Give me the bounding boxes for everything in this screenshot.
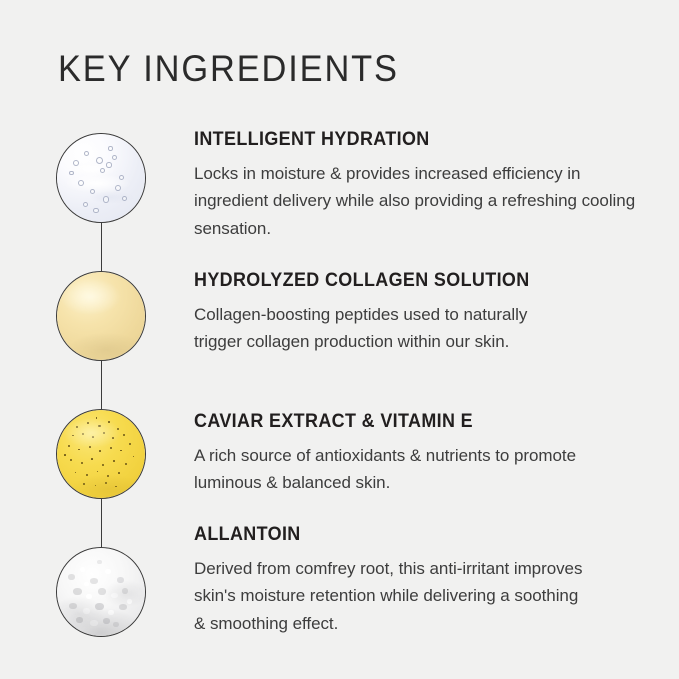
swatch-caviar-extract bbox=[56, 409, 146, 499]
gel-bubbles bbox=[57, 134, 145, 222]
cream-surface bbox=[57, 272, 145, 360]
ingredient-name: CAVIAR EXTRACT & VITAMIN E bbox=[194, 412, 580, 432]
swatch-allantoin-powder bbox=[56, 547, 146, 637]
ingredient-description: Derived from comfrey root, this anti-irr… bbox=[194, 555, 586, 638]
ingredient-block-allantoin: ALLANTOIN Derived from comfrey root, thi… bbox=[194, 525, 614, 637]
ingredient-name: ALLANTOIN bbox=[194, 525, 580, 545]
ingredient-name: HYDROLYZED COLLAGEN SOLUTION bbox=[194, 271, 562, 291]
connector-line-3-4 bbox=[101, 499, 102, 547]
page-title: KEY INGREDIENTS bbox=[58, 50, 399, 87]
swatch-clear-gel bbox=[56, 133, 146, 223]
ingredient-swatch-column bbox=[56, 133, 148, 637]
powder-shading bbox=[57, 548, 145, 636]
ingredient-name: INTELLIGENT HYDRATION bbox=[194, 130, 610, 150]
connector-line-2-3 bbox=[101, 361, 102, 409]
ingredient-block-caviar-extract-vitamin-e: CAVIAR EXTRACT & VITAMIN E A rich source… bbox=[194, 412, 614, 497]
caviar-gloss bbox=[57, 410, 145, 498]
ingredient-description: Locks in moisture & provides increased e… bbox=[194, 160, 646, 243]
connector-line-1-2 bbox=[101, 223, 102, 271]
ingredient-description: Collagen-boosting peptides used to natur… bbox=[194, 301, 534, 356]
ingredient-description: A rich source of antioxidants & nutrient… bbox=[194, 442, 586, 497]
swatch-collagen-cream bbox=[56, 271, 146, 361]
key-ingredients-infographic: KEY INGREDIENTS bbox=[0, 0, 679, 679]
ingredient-block-intelligent-hydration: INTELLIGENT HYDRATION Locks in moisture … bbox=[194, 130, 646, 242]
ingredient-block-hydrolyzed-collagen-solution: HYDROLYZED COLLAGEN SOLUTION Collagen-bo… bbox=[194, 271, 594, 356]
